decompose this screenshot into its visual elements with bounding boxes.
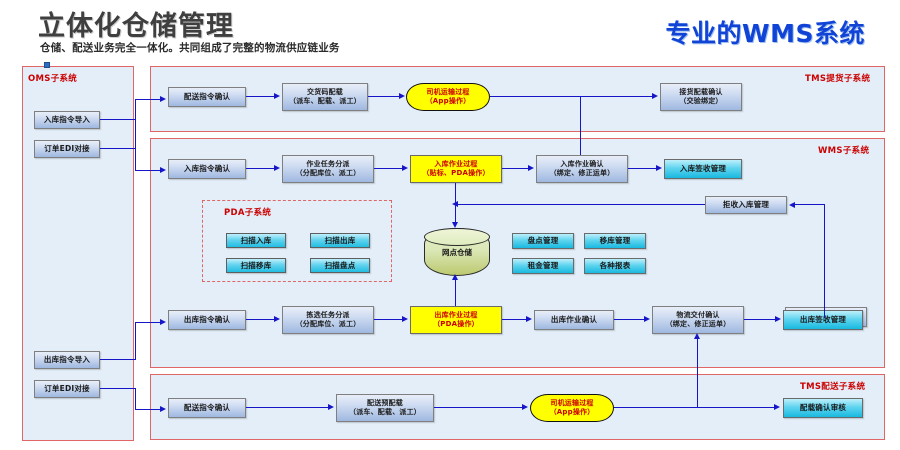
connector	[100, 388, 136, 389]
arrowhead	[160, 406, 166, 412]
node-label-line2: （绑定、修正运单）	[666, 320, 731, 329]
connector	[744, 319, 776, 320]
oms-node-outbound-import[interactable]: 出库指令导入	[34, 351, 100, 369]
arrowhead	[160, 96, 166, 102]
node-label-line2: （交验绑定）	[679, 97, 722, 106]
tms-pickup-node-loading[interactable]: 交货码配载 （派车、配载、派工）	[282, 83, 368, 111]
tms-delivery-node-load-audit[interactable]: 配载确认审核	[783, 398, 863, 418]
wms-node-inbound-process[interactable]: 入库作业过程 （贴标、PDA操作）	[410, 155, 502, 183]
tms-pickup-node-receive-confirm[interactable]: 接货配载确认 （交验绑定）	[660, 83, 742, 111]
connector	[580, 96, 581, 164]
oms-node-inbound-import[interactable]: 入库指令导入	[34, 111, 100, 129]
node-label: 出库指令确认	[184, 315, 230, 324]
connector	[135, 322, 136, 360]
panel-pda-label: PDA子系统	[224, 206, 271, 218]
connector	[614, 407, 776, 408]
connector	[824, 204, 825, 316]
node-label: 入库指令导入	[44, 115, 90, 124]
node-label: 配送指令确认	[184, 403, 230, 412]
oms-node-order-edi-top[interactable]: 订单EDI对接	[34, 140, 100, 158]
connector	[490, 96, 654, 97]
node-label: 扫描出库	[325, 236, 356, 245]
diagram-canvas: 立体化仓储管理 仓储、配送业务完全一体化。共同组成了完整的物流供应链业务 专业的…	[0, 0, 900, 450]
connector	[502, 168, 529, 169]
node-label-line2: （分配库位、派工）	[296, 320, 361, 329]
arrowhead	[160, 167, 166, 173]
storage-cylinder: 网点仓储	[424, 228, 490, 276]
node-label: 扫描移库	[241, 261, 272, 270]
node-label: 配载确认审核	[800, 403, 846, 412]
resize-handle[interactable]	[44, 62, 50, 68]
node-label: 盘点管理	[528, 236, 559, 245]
wms-node-inbound-confirm[interactable]: 入库指令确认	[168, 159, 246, 179]
node-label-line2: （App操作）	[426, 97, 471, 106]
node-label-line1: 司机运输过程	[550, 399, 593, 408]
tms-delivery-node-preload[interactable]: 配送预配载 （派车、配载、派工）	[336, 394, 434, 422]
wms-node-outbound-signoff[interactable]: 出库签收管理	[783, 310, 863, 330]
connector	[135, 148, 136, 171]
node-label: 扫描入库	[241, 236, 272, 245]
arrowhead	[644, 316, 650, 322]
connector	[697, 337, 698, 407]
arrowhead	[274, 165, 280, 171]
arrowhead	[775, 316, 781, 322]
connector	[374, 168, 404, 169]
node-label: 扫描盘点	[325, 261, 356, 270]
arrowhead	[526, 316, 532, 322]
node-label: 订单EDI对接	[44, 384, 90, 393]
connector	[614, 319, 645, 320]
mgmt-node-stocktake[interactable]: 盘点管理	[512, 233, 574, 249]
connector	[100, 359, 136, 360]
connector	[246, 319, 276, 320]
wms-node-inbound-job-confirm[interactable]: 入库作业确认 （绑定、修正运单）	[536, 155, 628, 183]
connector	[100, 148, 136, 149]
arrowhead	[160, 319, 166, 325]
node-label: 入库签收管理	[680, 164, 726, 173]
node-label: 拒收入库管理	[723, 200, 769, 209]
node-label-line1: 配送预配载	[367, 399, 403, 408]
node-label: 配送指令确认	[184, 92, 230, 101]
node-label-line2: （派车、配载、派工）	[289, 97, 361, 106]
connector	[135, 99, 136, 149]
arrowhead	[452, 274, 458, 280]
panel-wms-label: WMS子系统	[818, 144, 869, 156]
connector	[135, 409, 163, 410]
node-label: 租金管理	[528, 261, 559, 270]
mgmt-node-reports[interactable]: 各种报表	[584, 258, 646, 274]
storage-label: 网点仓储	[442, 247, 472, 258]
arrowhead	[274, 93, 280, 99]
tms-delivery-node-driver-transport[interactable]: 司机运输过程 （App操作）	[530, 394, 614, 422]
connector	[135, 170, 163, 171]
wms-node-reject-inbound[interactable]: 拒收入库管理	[705, 196, 787, 214]
arrowhead	[452, 201, 458, 207]
connector	[824, 310, 825, 318]
panel-tms-pickup-label: TMS提货子系统	[805, 72, 870, 84]
connector	[502, 319, 527, 320]
node-label: 入库指令确认	[184, 164, 230, 173]
node-label-line2: （贴标、PDA操作）	[422, 169, 489, 178]
oms-node-order-edi-bottom[interactable]: 订单EDI对接	[34, 380, 100, 398]
wms-node-delivery-confirm[interactable]: 物流交付确认 （绑定、修正运单）	[652, 306, 744, 334]
connector	[795, 204, 825, 205]
mgmt-node-rent[interactable]: 租金管理	[512, 258, 574, 274]
arrowhead	[399, 93, 405, 99]
pda-node-scan-stocktake[interactable]: 扫描盘点	[310, 258, 370, 273]
node-label-line1: 拣选任务分派	[306, 311, 349, 320]
arrowhead	[652, 93, 658, 99]
arrowhead	[274, 316, 280, 322]
arrowhead	[528, 165, 534, 171]
connector	[135, 388, 136, 410]
connector	[628, 168, 657, 169]
pda-node-scan-outbound[interactable]: 扫描出库	[310, 233, 370, 248]
node-label-line2: （绑定、修正运单）	[550, 169, 615, 178]
node-label-line1: 入库作业过程	[434, 160, 477, 169]
wms-node-pick-assign[interactable]: 拣选任务分派 （分配库位、派工）	[282, 306, 374, 334]
node-label-line2: （App操作）	[550, 408, 595, 417]
connector	[135, 99, 163, 100]
mgmt-node-relocation[interactable]: 移库管理	[584, 233, 646, 249]
wms-node-outbound-job-confirm[interactable]: 出库作业确认	[534, 310, 614, 330]
node-label-line2: （派车、配载、派工）	[349, 408, 421, 417]
connector	[135, 322, 163, 323]
page-title: 立体化仓储管理	[38, 4, 234, 43]
wms-node-task-assign[interactable]: 作业任务分派 （分配库位、派工）	[282, 155, 374, 183]
page-headline: 专业的WMS系统	[666, 14, 865, 50]
wms-node-outbound-confirm[interactable]: 出库指令确认	[168, 310, 246, 330]
node-label-line1: 司机运输过程	[426, 88, 469, 97]
node-label: 出库作业确认	[551, 315, 597, 324]
tms-pickup-node-driver-transport[interactable]: 司机运输过程 （App操作）	[406, 83, 490, 111]
connector	[100, 119, 136, 120]
connector	[455, 204, 705, 205]
panel-tms-delivery-label: TMS配送子系统	[800, 380, 865, 392]
page-subtitle: 仓储、配送业务完全一体化。共同组成了完整的物流供应链业务	[40, 40, 340, 55]
arrowhead	[402, 316, 408, 322]
connector	[368, 96, 400, 97]
arrowhead	[522, 404, 528, 410]
tms-pickup-node-order-confirm[interactable]: 配送指令确认	[168, 87, 246, 107]
wms-node-outbound-process[interactable]: 出库作业过程 （PDA操作）	[410, 306, 502, 334]
connector	[246, 96, 276, 97]
arrowhead	[328, 404, 334, 410]
node-label: 各种报表	[600, 261, 631, 270]
node-label: 移库管理	[600, 236, 631, 245]
wms-node-inbound-signoff[interactable]: 入库签收管理	[664, 159, 742, 179]
node-label-line1: 接货配载确认	[679, 88, 722, 97]
panel-oms-label: OMS子系统	[28, 72, 77, 84]
node-label-line2: （分配库位、派工）	[296, 169, 361, 178]
node-label-line1: 入库作业确认	[560, 160, 603, 169]
pda-node-scan-move[interactable]: 扫描移库	[226, 258, 286, 273]
node-label-line1: 出库作业过程	[434, 311, 477, 320]
arrowhead	[656, 165, 662, 171]
node-label-line1: 物流交付确认	[676, 311, 719, 320]
connector	[246, 407, 330, 408]
node-label-line2: （PDA操作）	[433, 320, 479, 329]
connector	[246, 168, 276, 169]
arrowhead	[694, 333, 700, 339]
connector	[374, 319, 404, 320]
node-label: 出库签收管理	[800, 315, 846, 324]
arrowhead	[774, 404, 780, 410]
panel-tms-pickup	[150, 66, 885, 132]
tms-delivery-node-order-confirm[interactable]: 配送指令确认	[168, 398, 246, 418]
node-label-line1: 作业任务分派	[306, 160, 349, 169]
node-label: 出库指令导入	[44, 355, 90, 364]
arrowhead	[402, 165, 408, 171]
node-label-line1: 交货码配载	[307, 88, 343, 97]
pda-node-scan-inbound[interactable]: 扫描入库	[226, 233, 286, 248]
node-label: 订单EDI对接	[44, 144, 90, 153]
connector	[434, 407, 524, 408]
